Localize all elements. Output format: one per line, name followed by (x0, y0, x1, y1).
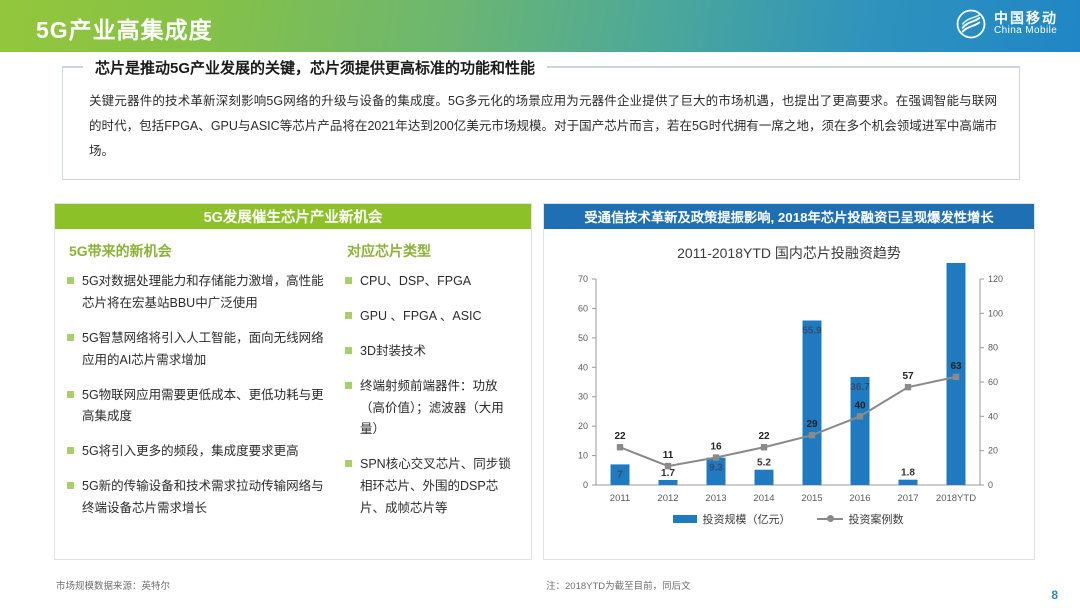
svg-text:120: 120 (988, 274, 1003, 284)
chart-title: 2011-2018YTD 国内芯片投融资趋势 (544, 243, 1034, 263)
svg-text:10: 10 (578, 451, 588, 461)
summary-callout: 芯片是推动5G产业发展的关键，芯片须提供更高标准的功能和性能 关键元器件的技术革… (62, 66, 1020, 180)
slide-header-bar: 5G产业高集成度 中国移动 China Mobile (0, 0, 1080, 52)
opportunities-list: 5G对数据处理能力和存储能力激增，高性能芯片将在宏基站BBU中广泛使用 5G智慧… (67, 271, 335, 520)
svg-text:60: 60 (988, 377, 998, 387)
legend-item-bar: 投资规模（亿元） (673, 511, 791, 527)
svg-text:100: 100 (988, 308, 1003, 318)
svg-text:20: 20 (578, 421, 588, 431)
divider-left (63, 67, 83, 68)
svg-text:0: 0 (583, 480, 588, 490)
list-item: 5G新的传输设备和技术需求拉动传输网络与终端设备芯片需求增长 (67, 476, 335, 520)
svg-text:2015: 2015 (801, 493, 822, 504)
svg-text:2014: 2014 (753, 493, 774, 504)
list-item: 3D封装技术 (345, 341, 519, 363)
svg-text:57: 57 (902, 371, 914, 382)
legend-line-label: 投资案例数 (849, 511, 904, 527)
list-item: GPU 、FPGA 、ASIC (345, 306, 519, 328)
list-item: 5G智慧网络将引入人工智能，面向无线网络应用的AI芯片需求增加 (67, 328, 335, 372)
svg-text:2013: 2013 (705, 493, 726, 504)
svg-text:2018YTD: 2018YTD (936, 493, 976, 504)
legend-line-swatch-icon (817, 515, 843, 523)
svg-text:29: 29 (806, 419, 818, 430)
china-mobile-logo-icon (956, 9, 986, 39)
svg-text:1.7: 1.7 (661, 468, 675, 479)
svg-text:36.7: 36.7 (850, 382, 870, 393)
svg-text:55.9: 55.9 (802, 325, 822, 336)
list-item: 5G对数据处理能力和存储能力激增，高性能芯片将在宏基站BBU中广泛使用 (67, 271, 335, 315)
callout-body: 关键元器件的技术革新深刻影响5G网络的升级与设备的集成度。5G多元化的场景应用为… (63, 67, 1019, 164)
divider-right (547, 67, 1019, 68)
svg-text:2016: 2016 (849, 493, 870, 504)
investment-panel-header: 受通信技术革新及政策提振影响, 2018年芯片投融资已呈现爆发性增长 (544, 204, 1034, 229)
svg-text:0: 0 (988, 480, 993, 490)
svg-text:2012: 2012 (657, 493, 678, 504)
page-number: 8 (1051, 588, 1058, 602)
chip-types-column: 对应芯片类型 CPU、DSP、FPGA GPU 、FPGA 、ASIC 3D封装… (345, 239, 519, 533)
opportunities-panel-header: 5G发展催生芯片产业新机会 (55, 204, 531, 229)
svg-text:60: 60 (578, 303, 588, 313)
chip-types-column-title: 对应芯片类型 (347, 241, 519, 261)
svg-text:70: 70 (578, 274, 588, 284)
svg-text:2011: 2011 (610, 493, 630, 504)
list-item: SPN核心交叉芯片、同步锁相环芯片、外围的DSP芯片、成帧芯片等 (345, 454, 519, 520)
svg-text:40: 40 (578, 362, 588, 372)
list-item: 终端射频前端器件：功放（高价值）；滤波器（大用量） (345, 376, 519, 442)
page-title: 5G产业高集成度 (36, 11, 213, 45)
opportunities-column: 5G带来的新机会 5G对数据处理能力和存储能力激增，高性能芯片将在宏基站BBU中… (67, 239, 335, 533)
svg-text:22: 22 (614, 431, 626, 442)
list-item: CPU、DSP、FPGA (345, 271, 519, 293)
legend-bar-label: 投资规模（亿元） (703, 511, 791, 527)
footnote-left: 市场规模数据来源：英特尔 (56, 578, 170, 592)
opportunities-columns: 5G带来的新机会 5G对数据处理能力和存储能力激增，高性能芯片将在宏基站BBU中… (55, 229, 531, 533)
chart-legend: 投资规模（亿元） 投资案例数 (544, 511, 1032, 527)
svg-text:7: 7 (617, 469, 623, 480)
legend-item-line: 投资案例数 (817, 511, 904, 527)
svg-text:30: 30 (578, 392, 588, 402)
legend-bar-swatch-icon (673, 515, 697, 523)
chip-types-list: CPU、DSP、FPGA GPU 、FPGA 、ASIC 3D封装技术 终端射频… (345, 271, 519, 520)
svg-text:22: 22 (758, 431, 770, 442)
svg-text:50: 50 (578, 333, 588, 343)
svg-text:16: 16 (710, 442, 722, 453)
svg-text:9.3: 9.3 (709, 463, 723, 474)
brand-name-en: China Mobile (994, 26, 1058, 37)
svg-text:1.8: 1.8 (901, 468, 915, 479)
svg-text:40: 40 (854, 400, 866, 411)
svg-text:63: 63 (950, 361, 962, 372)
brand-name-cn: 中国移动 (994, 11, 1058, 26)
svg-text:11: 11 (663, 450, 674, 461)
callout-title-row: 芯片是推动5G产业发展的关键，芯片须提供更高标准的功能和性能 (63, 56, 1019, 78)
svg-text:2017: 2017 (897, 493, 918, 504)
svg-text:5.2: 5.2 (757, 458, 771, 469)
svg-text:40: 40 (988, 411, 998, 421)
footnote-right: 注：2018YTD为截至目前，同后文 (546, 578, 691, 592)
chart-area: 01020304050607002040608010012071.79.35.2… (544, 263, 1032, 531)
callout-title: 芯片是推动5G产业发展的关键，芯片须提供更高标准的功能和性能 (83, 57, 547, 78)
list-item: 5G将引入更多的频段，集成度要求更高 (67, 441, 335, 463)
investment-chart-panel: 受通信技术革新及政策提振影响, 2018年芯片投融资已呈现爆发性增长 2011-… (543, 203, 1035, 560)
svg-text:80: 80 (988, 343, 998, 353)
opportunities-panel: 5G发展催生芯片产业新机会 5G带来的新机会 5G对数据处理能力和存储能力激增，… (54, 203, 532, 560)
svg-text:20: 20 (988, 446, 998, 456)
brand-logo: 中国移动 China Mobile (956, 9, 1058, 39)
list-item: 5G物联网应用需要更低成本、更低功耗与更高集成度 (67, 385, 335, 429)
opportunities-column-title: 5G带来的新机会 (69, 241, 335, 261)
investment-trend-chart: 01020304050607002040608010012071.79.35.2… (544, 263, 1032, 531)
